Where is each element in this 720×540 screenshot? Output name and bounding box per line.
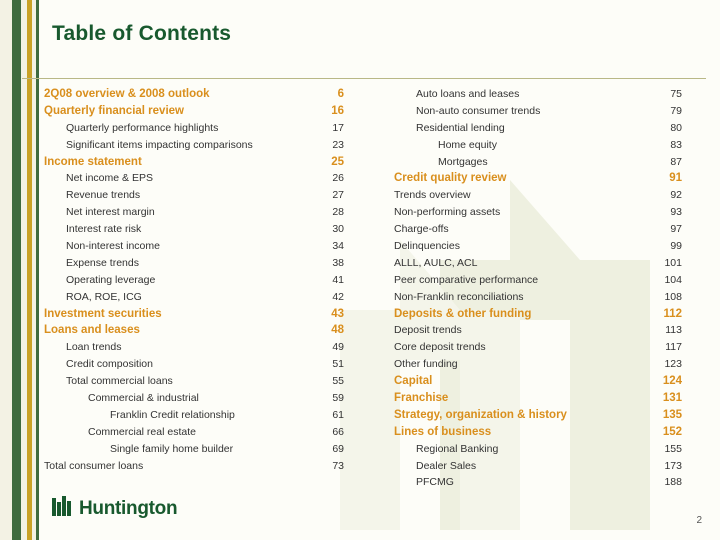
toc-entry-page: 41 [310,272,344,289]
toc-entry-page: 27 [310,187,344,204]
toc-entry-page: 135 [648,407,682,424]
toc-entry-page: 23 [310,137,344,154]
toc-entry-page: 28 [310,204,344,221]
toc-entry[interactable]: 2Q08 overview & 2008 outlook6 [44,86,344,103]
toc-entry-page: 104 [648,272,682,289]
toc-entry[interactable]: Significant items impacting comparisons2… [44,137,344,154]
toc-entry[interactable]: Quarterly performance highlights17 [44,120,344,137]
toc-entry[interactable]: PFCMG188 [372,474,702,491]
toc-entry-label: Interest rate risk [66,223,141,235]
title-divider [22,78,706,79]
toc-entry-label: Credit quality review [394,172,506,184]
toc-entry-label: Non-interest income [66,240,160,252]
toc-entry-label: Dealer Sales [416,460,476,472]
page-title: Table of Contents [52,22,231,46]
stripe-green-thin [36,0,39,540]
toc-entry-label: Franchise [394,392,448,404]
toc-entry-label: Non-Franklin reconciliations [394,291,524,303]
toc-entry-page: 124 [648,373,682,390]
toc-entry-label: Home equity [438,139,497,151]
toc-entry-label: Charge-offs [394,223,449,235]
toc-entry[interactable]: Credit quality review91 [372,170,702,187]
toc-entry[interactable]: Delinquencies99 [372,238,702,255]
toc-entry[interactable]: Non-Franklin reconciliations108 [372,289,702,306]
toc-entry-page: 173 [648,458,682,475]
toc-entry[interactable]: Revenue trends27 [44,187,344,204]
toc-entry-page: 99 [648,238,682,255]
toc-entry-page: 59 [310,390,344,407]
toc-entry-label: Non-performing assets [394,206,500,218]
toc-entry-label: Credit composition [66,358,153,370]
toc-entry[interactable]: Core deposit trends117 [372,339,702,356]
toc-right-column: Auto loans and leases75Non-auto consumer… [372,86,702,491]
toc-entry-page: 30 [310,221,344,238]
page-title-container: Table of Contents [52,22,231,46]
toc-entry-label: Strategy, organization & history [394,409,567,421]
toc-entry[interactable]: Non-auto consumer trends79 [372,103,702,120]
toc-entry-label: Loan trends [66,341,121,353]
toc-entry[interactable]: Strategy, organization & history135 [372,407,702,424]
toc-entry-label: Revenue trends [66,189,140,201]
toc-entry[interactable]: Other funding123 [372,356,702,373]
toc-left-column: 2Q08 overview & 2008 outlook6Quarterly f… [44,86,344,474]
toc-entry-page: 108 [648,289,682,306]
toc-entry-label: Lines of business [394,426,491,438]
toc-entry-label: Other funding [394,358,458,370]
toc-entry-label: Non-auto consumer trends [416,105,540,117]
toc-entry-label: Auto loans and leases [416,88,519,100]
toc-entry-label: Commercial real estate [88,426,196,438]
toc-entry-label: PFCMG [416,476,454,488]
toc-entry-page: 26 [310,170,344,187]
toc-entry-page: 43 [310,306,344,323]
toc-entry-label: Significant items impacting comparisons [66,139,253,151]
slide: Table of Contents 2Q08 overview & 2008 o… [0,0,720,540]
toc-entry[interactable]: Franchise131 [372,390,702,407]
toc-entry-page: 113 [648,322,682,339]
toc-entry-page: 34 [310,238,344,255]
toc-entry[interactable]: Credit composition51 [44,356,344,373]
toc-entry-page: 75 [648,86,682,103]
toc-entry[interactable]: Deposits & other funding112 [372,306,702,323]
toc-entry-page: 51 [310,356,344,373]
toc-entry[interactable]: Investment securities43 [44,306,344,323]
toc-entry[interactable]: Mortgages87 [372,154,702,171]
toc-entry-label: Regional Banking [416,443,498,455]
toc-entry[interactable]: Non-interest income34 [44,238,344,255]
stripe-green-wide [12,0,21,540]
toc-entry[interactable]: Deposit trends113 [372,322,702,339]
toc-entry[interactable]: Net interest margin28 [44,204,344,221]
toc-entry-page: 69 [310,441,344,458]
toc-entry-label: Mortgages [438,156,488,168]
toc-entry-label: Total consumer loans [44,460,143,472]
toc-entry-page: 123 [648,356,682,373]
toc-entry-page: 188 [648,474,682,491]
toc-entry[interactable]: Loans and leases48 [44,322,344,339]
toc-entry-label: Franklin Credit relationship [110,409,235,421]
toc-entry[interactable]: ROA, ROE, ICG42 [44,289,344,306]
toc-entry[interactable]: Trends overview92 [372,187,702,204]
toc-entry[interactable]: Capital124 [372,373,702,390]
toc-entry[interactable]: Income statement25 [44,154,344,171]
toc-entry-label: Trends overview [394,189,471,201]
toc-entry[interactable]: Residential lending80 [372,120,702,137]
toc-entry-page: 83 [648,137,682,154]
toc-entry[interactable]: Commercial & industrial59 [44,390,344,407]
stripe-outer-cream [0,0,12,540]
toc-entry-label: Single family home builder [110,443,233,455]
logo-mark-icon [52,496,74,518]
toc-entry-page: 73 [310,458,344,475]
toc-entry[interactable]: Net income & EPS26 [44,170,344,187]
toc-entry[interactable]: Quarterly financial review16 [44,103,344,120]
toc-entry-page: 155 [648,441,682,458]
toc-entry-page: 48 [310,322,344,339]
toc-entry[interactable]: Lines of business152 [372,424,702,441]
toc-entry-page: 92 [648,187,682,204]
toc-entry-page: 66 [310,424,344,441]
toc-entry-label: ROA, ROE, ICG [66,291,142,303]
toc-entry-page: 97 [648,221,682,238]
toc-entry-label: Loans and leases [44,324,140,336]
toc-entry-page: 79 [648,103,682,120]
toc-entry[interactable]: Commercial real estate66 [44,424,344,441]
toc-entry-label: Quarterly performance highlights [66,122,218,134]
toc-entry[interactable]: Expense trends38 [44,255,344,272]
toc-entry[interactable]: Interest rate risk30 [44,221,344,238]
toc-entry[interactable]: Charge-offs97 [372,221,702,238]
toc-entry-label: Commercial & industrial [88,392,199,404]
toc-entry-label: Deposits & other funding [394,308,531,320]
toc-entry-label: Peer comparative performance [394,274,538,286]
toc-entry[interactable]: Home equity83 [372,137,702,154]
toc-entry[interactable]: Regional Banking155 [372,441,702,458]
toc-entry-label: 2Q08 overview & 2008 outlook [44,88,210,100]
toc-entry[interactable]: ALLL, AULC, ACL101 [372,255,702,272]
toc-entry-label: Residential lending [416,122,505,134]
toc-entry-page: 16 [310,103,344,120]
toc-entry-label: Deposit trends [394,324,462,336]
toc-entry[interactable]: Franklin Credit relationship61 [44,407,344,424]
toc-entry-page: 17 [310,120,344,137]
toc-entry-page: 93 [648,204,682,221]
toc-entry[interactable]: Total commercial loans55 [44,373,344,390]
page-number: 2 [696,515,702,526]
toc-entry-page: 80 [648,120,682,137]
toc-entry[interactable]: Non-performing assets93 [372,204,702,221]
toc-entry-page: 87 [648,154,682,171]
toc-entry-page: 42 [310,289,344,306]
toc-entry[interactable]: Auto loans and leases75 [372,86,702,103]
toc-entry-label: Net income & EPS [66,172,153,184]
toc-entry-page: 38 [310,255,344,272]
toc-entry-label: Investment securities [44,308,162,320]
toc-entry-page: 117 [648,339,682,356]
toc-entry-label: Capital [394,375,432,387]
toc-entry-label: Delinquencies [394,240,460,252]
toc-entry-label: Expense trends [66,257,139,269]
toc-entry-label: ALLL, AULC, ACL [394,257,477,269]
toc-entry[interactable]: Dealer Sales173 [372,458,702,475]
toc-entry-page: 49 [310,339,344,356]
toc-entry[interactable]: Single family home builder69 [44,441,344,458]
toc-entry-page: 55 [310,373,344,390]
toc-entry-page: 101 [648,255,682,272]
huntington-logo: Huntington [52,496,177,518]
toc-entry-page: 152 [648,424,682,441]
toc-entry[interactable]: Operating leverage41 [44,272,344,289]
toc-entry-page: 91 [648,170,682,187]
toc-entry[interactable]: Loan trends49 [44,339,344,356]
toc-entry-label: Operating leverage [66,274,155,286]
toc-entry-label: Income statement [44,156,142,168]
toc-entry[interactable]: Peer comparative performance104 [372,272,702,289]
toc-entry-page: 112 [648,306,682,323]
toc-entry-label: Quarterly financial review [44,105,184,117]
toc-entry-label: Core deposit trends [394,341,486,353]
logo-wordmark: Huntington [79,499,177,518]
toc-entry-page: 6 [310,86,344,103]
toc-entry-label: Net interest margin [66,206,155,218]
toc-entry-label: Total commercial loans [66,375,173,387]
toc-entry-page: 61 [310,407,344,424]
toc-entry-page: 25 [310,154,344,171]
toc-entry[interactable]: Total consumer loans73 [44,458,344,475]
toc-entry-page: 131 [648,390,682,407]
